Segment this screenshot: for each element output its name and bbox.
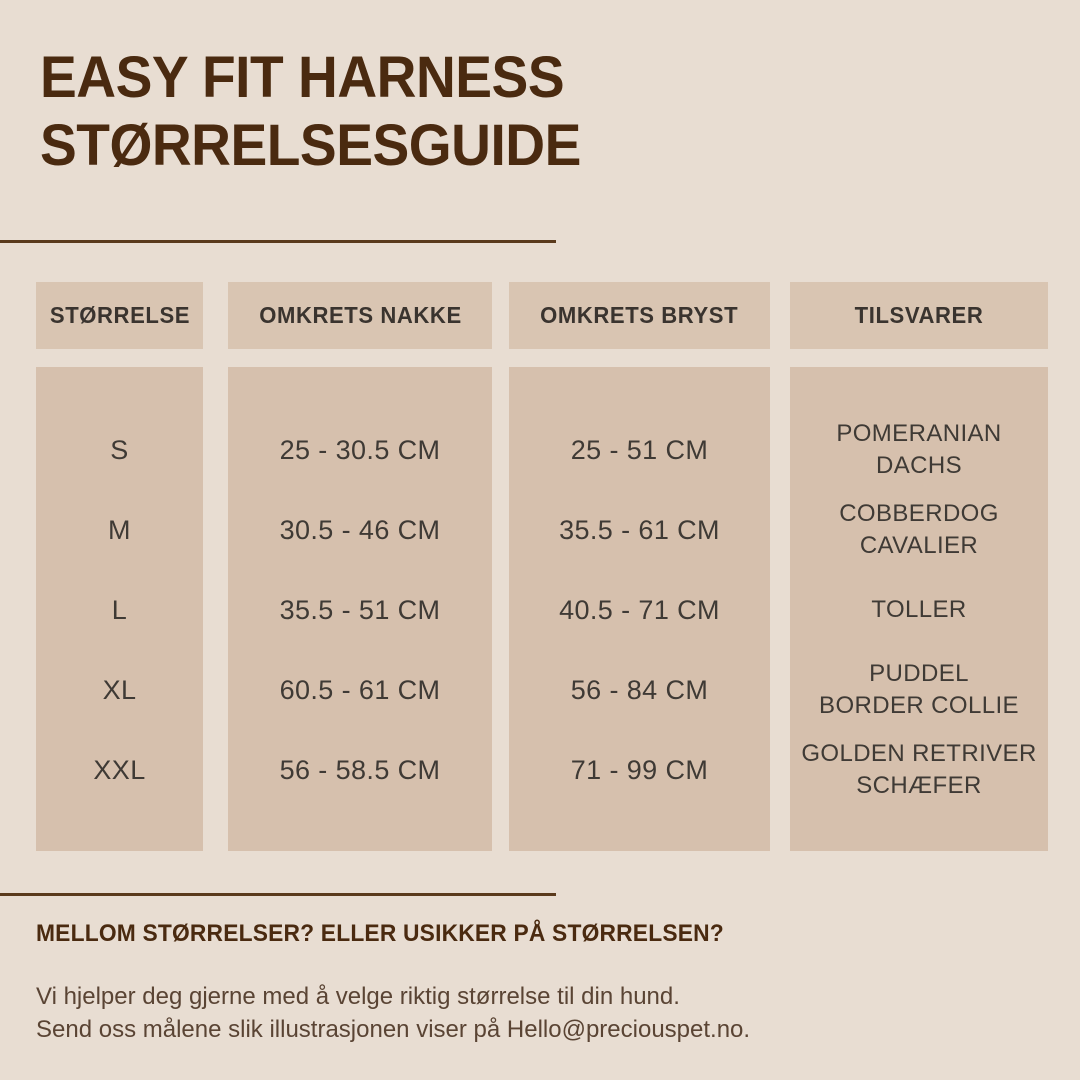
table-header-label: OMKRETS BRYST (540, 302, 738, 329)
table-header-label: OMKRETS NAKKE (259, 302, 462, 329)
footer-heading: MELLOM STØRRELSER? ELLER USIKKER PÅ STØR… (36, 920, 948, 948)
footer-body-line-1: Vi hjelper deg gjerne med å velge riktig… (36, 980, 996, 1013)
table-header-breeds: TILSVARER (790, 282, 1048, 349)
table-header-chest: OMKRETS BRYST (509, 282, 770, 349)
table-header-size: STØRRELSE (36, 282, 203, 349)
size-table: STØRRELSE OMKRETS NAKKE OMKRETS BRYST TI… (0, 0, 1080, 1080)
footer-body-line-2: Send oss målene slik illustrasjonen vise… (36, 1013, 996, 1046)
table-header-label: STØRRELSE (49, 302, 189, 329)
table-column-body-breeds (790, 367, 1048, 851)
size-guide-page: EASY FIT HARNESS STØRRELSESGUIDE STØRREL… (0, 0, 1080, 1080)
table-column-body-chest (509, 367, 770, 851)
table-column-body-neck (228, 367, 492, 851)
table-header-label: TILSVARER (855, 302, 984, 329)
footer: MELLOM STØRRELSER? ELLER USIKKER PÅ STØR… (36, 920, 996, 1046)
footer-body: Vi hjelper deg gjerne med å velge riktig… (36, 980, 996, 1046)
table-header-neck: OMKRETS NAKKE (228, 282, 492, 349)
table-column-body-size (36, 367, 203, 851)
